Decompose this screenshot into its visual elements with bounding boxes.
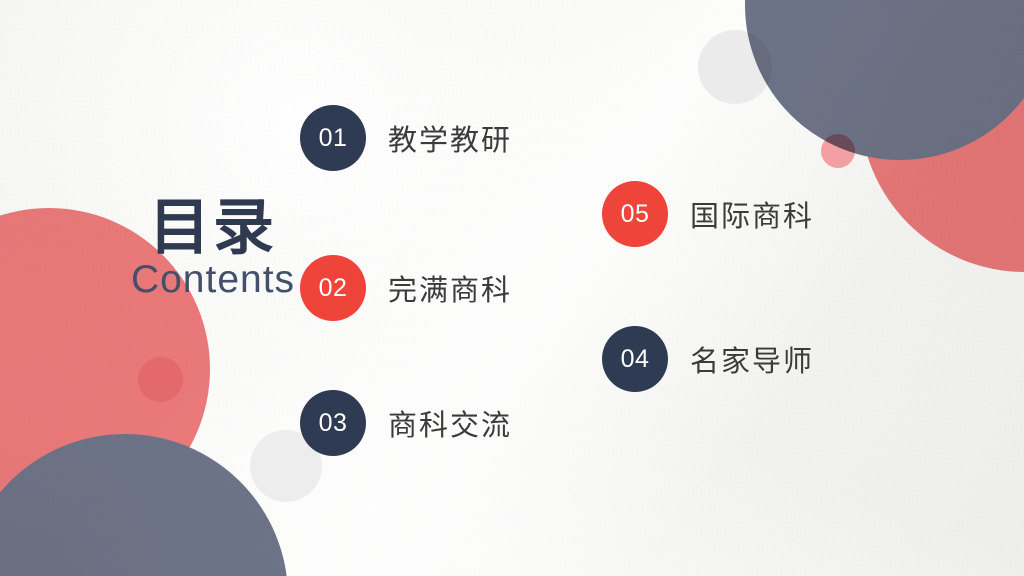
- agenda-label-01: 教学教研: [388, 117, 512, 159]
- agenda-badge-03: 03: [300, 390, 366, 456]
- agenda-label-03: 商科交流: [388, 402, 512, 444]
- agenda-badge-04: 04: [602, 326, 668, 392]
- agenda-item-03[interactable]: 03 商科交流: [300, 390, 512, 456]
- slide-title-chinese: 目录: [98, 196, 328, 258]
- agenda-badge-02: 02: [300, 255, 366, 321]
- agenda-label-04: 名家导师: [690, 338, 814, 380]
- presentation-slide: 目录 Contents 01 教学教研 02 完满商科 03 商科交流 05 国…: [0, 0, 1024, 576]
- agenda-item-04[interactable]: 04 名家导师: [602, 326, 814, 392]
- agenda-badge-05: 05: [602, 181, 668, 247]
- agenda-item-02[interactable]: 02 完满商科: [300, 255, 512, 321]
- agenda-badge-01: 01: [300, 105, 366, 171]
- agenda-item-01[interactable]: 01 教学教研: [300, 105, 512, 171]
- slide-title-block: 目录 Contents: [98, 196, 328, 301]
- decorative-blob-slate-top-right: [745, 0, 1024, 160]
- agenda-item-05[interactable]: 05 国际商科: [602, 181, 814, 247]
- decorative-blob-slate-bottom-left: [0, 434, 288, 576]
- agenda-label-05: 国际商科: [690, 193, 814, 235]
- slide-title-english: Contents: [98, 260, 328, 301]
- agenda-label-02: 完满商科: [388, 267, 512, 309]
